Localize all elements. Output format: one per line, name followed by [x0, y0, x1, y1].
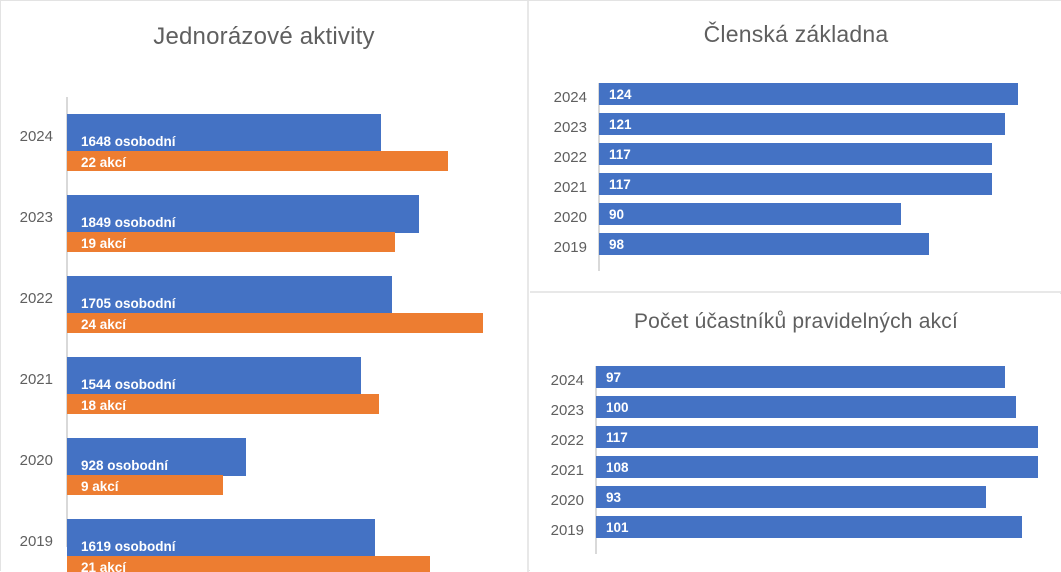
bar-clenska-zakladna-2020[interactable]	[599, 203, 901, 225]
bar-clenska-zakladna-2021[interactable]	[599, 173, 992, 195]
chart-panel-jednorazove-aktivity: Jednorázové aktivity 2024 1648 osobodní …	[1, 1, 529, 572]
bar-pocet-ucastniku-2019[interactable]	[596, 516, 1022, 538]
bar-label-akci-2022: 24 akcí	[81, 318, 126, 332]
bar-label-akci-2019: 21 akcí	[81, 561, 126, 572]
category-label-2023: 2023	[532, 403, 584, 418]
bar-label-akci-2023: 19 akcí	[81, 237, 126, 251]
chart-title-pocet-ucastniku: Počet účastníků pravidelných akcí	[530, 310, 1061, 334]
bar-label-clenska-zakladna-2024: 124	[609, 88, 632, 102]
plot-area-clenska-zakladna: 2024 124 2023 121 2022 117 2021 117 2020…	[599, 83, 1039, 271]
bar-label-osobodni-2019: 1619 osobodní	[81, 540, 176, 554]
plot-area-jednorazove-aktivity: 2024 1648 osobodní 22 akcí 2023 1849 oso…	[67, 97, 522, 547]
bar-clenska-zakladna-2019[interactable]	[599, 233, 929, 255]
bar-label-pocet-ucastniku-2019: 101	[606, 521, 629, 535]
bar-label-osobodni-2023: 1849 osobodní	[81, 216, 176, 230]
bar-pocet-ucastniku-2021[interactable]	[596, 456, 1038, 478]
category-label-2022: 2022	[1, 291, 53, 306]
bar-label-clenska-zakladna-2022: 117	[609, 148, 631, 162]
category-label-2022: 2022	[535, 150, 587, 165]
bar-pocet-ucastniku-2024[interactable]	[596, 366, 1005, 388]
bar-pocet-ucastniku-2023[interactable]	[596, 396, 1016, 418]
bar-label-clenska-zakladna-2021: 117	[609, 178, 631, 192]
category-label-2021: 2021	[1, 372, 53, 387]
bar-label-osobodni-2024: 1648 osobodní	[81, 135, 176, 149]
plot-area-pocet-ucastniku: 2024 97 2023 100 2022 117 2021 108 2020 …	[596, 366, 1046, 554]
bar-label-akci-2020: 9 akcí	[81, 480, 119, 494]
bar-label-osobodni-2022: 1705 osobodní	[81, 297, 176, 311]
bar-label-clenska-zakladna-2020: 90	[609, 208, 624, 222]
charts-dashboard: Jednorázové aktivity 2024 1648 osobodní …	[0, 0, 1061, 571]
category-label-2024: 2024	[532, 373, 584, 388]
chart-title-jednorazove-aktivity: Jednorázové aktivity	[1, 23, 527, 51]
category-label-2020: 2020	[535, 210, 587, 225]
category-label-2019: 2019	[1, 534, 53, 549]
bar-label-pocet-ucastniku-2022: 117	[606, 431, 628, 445]
category-label-2020: 2020	[1, 453, 53, 468]
bar-pocet-ucastniku-2020[interactable]	[596, 486, 986, 508]
bar-label-pocet-ucastniku-2020: 93	[606, 491, 621, 505]
bar-clenska-zakladna-2023[interactable]	[599, 113, 1005, 135]
category-label-2021: 2021	[532, 463, 584, 478]
bar-label-pocet-ucastniku-2021: 108	[606, 461, 629, 475]
bar-label-clenska-zakladna-2023: 121	[609, 118, 632, 132]
bar-akci-2022[interactable]	[67, 313, 483, 333]
category-label-2019: 2019	[535, 240, 587, 255]
chart-panel-pocet-ucastniku: Počet účastníků pravidelných akcí 2024 9…	[530, 294, 1061, 572]
category-label-2022: 2022	[532, 433, 584, 448]
category-label-2023: 2023	[535, 120, 587, 135]
bar-label-osobodni-2020: 928 osobodní	[81, 459, 168, 473]
bar-label-akci-2024: 22 akcí	[81, 156, 126, 170]
category-label-2019: 2019	[532, 523, 584, 538]
category-label-2020: 2020	[532, 493, 584, 508]
category-label-2023: 2023	[1, 210, 53, 225]
bar-clenska-zakladna-2024[interactable]	[599, 83, 1018, 105]
bar-label-osobodni-2021: 1544 osobodní	[81, 378, 176, 392]
category-label-2021: 2021	[535, 180, 587, 195]
bar-clenska-zakladna-2022[interactable]	[599, 143, 992, 165]
bar-label-akci-2021: 18 akcí	[81, 399, 126, 413]
bar-label-pocet-ucastniku-2024: 97	[606, 371, 621, 385]
bar-label-clenska-zakladna-2019: 98	[609, 238, 624, 252]
category-label-2024: 2024	[535, 90, 587, 105]
chart-title-clenska-zakladna: Členská základna	[530, 21, 1061, 48]
category-label-2024: 2024	[1, 129, 53, 144]
bar-pocet-ucastniku-2022[interactable]	[596, 426, 1038, 448]
bar-label-pocet-ucastniku-2023: 100	[606, 401, 629, 415]
chart-panel-clenska-zakladna: Členská základna 2024 124 2023 121 2022 …	[530, 1, 1061, 293]
